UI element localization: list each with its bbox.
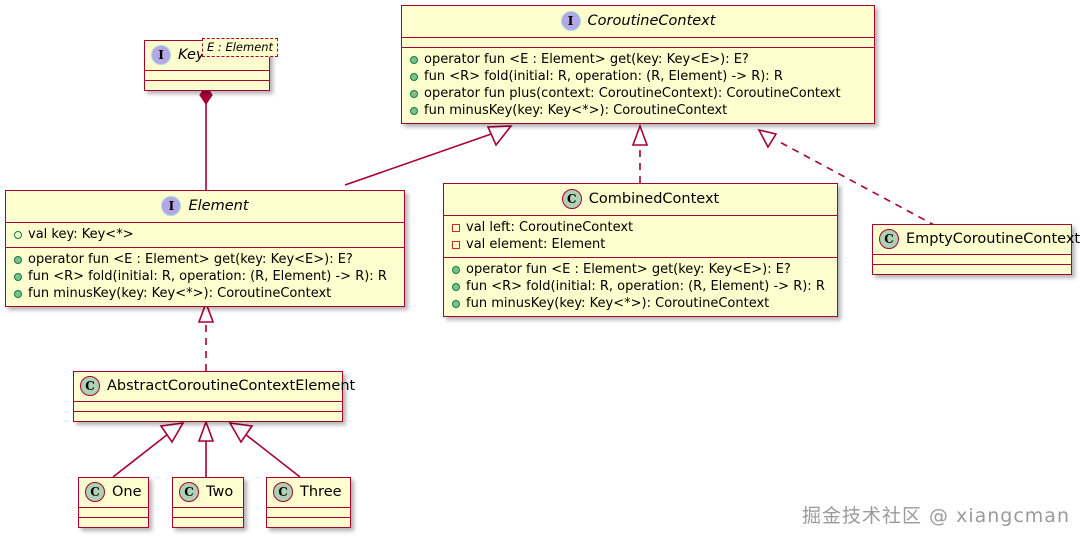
- public-method-marker-icon: [410, 73, 418, 81]
- method-row: fun minusKey(key: Key<*>): CoroutineCont…: [450, 295, 831, 312]
- class-fields-combinedcontext: val left: CoroutineContext val element: …: [444, 216, 837, 257]
- class-methods-emptycoroutinecontext: [873, 265, 1071, 274]
- field-row: val element: Element: [450, 236, 831, 253]
- class-methods-one: [79, 518, 148, 527]
- class-header-combinedcontext: C CombinedContext: [444, 184, 837, 215]
- class-methods-coroutinecontext: operator fun <E : Element> get(key: Key<…: [402, 48, 874, 123]
- class-fields-three: [267, 508, 350, 517]
- class-title-key: Key: [178, 47, 205, 63]
- relation-two-abstractelement: [199, 422, 213, 477]
- class-box-combinedcontext[interactable]: C CombinedContext val left: CoroutineCon…: [443, 183, 838, 317]
- class-header-coroutinecontext: I CoroutineContext: [402, 6, 874, 37]
- public-method-marker-icon: [452, 300, 460, 308]
- class-stereotype-icon: C: [879, 229, 899, 249]
- public-method-marker-icon: [452, 283, 460, 291]
- interface-stereotype-icon: I: [161, 196, 181, 216]
- interface-stereotype-icon: I: [151, 45, 171, 65]
- field-row: val left: CoroutineContext: [450, 219, 831, 236]
- private-field-marker-icon: [452, 241, 460, 249]
- method-row: fun <R> fold(initial: R, operation: (R, …: [450, 278, 831, 295]
- diagram-canvas: I Key E : Element I CoroutineContext ope…: [0, 0, 1084, 540]
- public-method-marker-icon: [410, 90, 418, 98]
- class-box-three[interactable]: C Three: [266, 477, 351, 528]
- class-methods-element: operator fun <E : Element> get(key: Key<…: [6, 248, 404, 306]
- class-box-emptycoroutinecontext[interactable]: C EmptyCoroutineContext: [872, 224, 1072, 275]
- method-signature: operator fun <E : Element> get(key: Key<…: [28, 251, 353, 268]
- relation-element-coroutinecontext: [345, 126, 511, 185]
- class-methods-abstractcoroutinecontextelement: [74, 412, 342, 421]
- class-title-element: Element: [188, 198, 248, 214]
- watermark-text: 掘金技术社区 @ xiangcman: [802, 501, 1070, 528]
- class-box-abstractcoroutinecontextelement[interactable]: C AbstractCoroutineContextElement: [73, 371, 343, 422]
- method-row: operator fun <E : Element> get(key: Key<…: [12, 251, 398, 268]
- method-row: fun minusKey(key: Key<*>): CoroutineCont…: [12, 285, 398, 302]
- class-methods-three: [267, 518, 350, 527]
- public-method-marker-icon: [14, 290, 22, 298]
- field-signature: val left: CoroutineContext: [466, 219, 633, 236]
- class-title-emptycoroutinecontext: EmptyCoroutineContext: [906, 231, 1080, 247]
- relation-combinedcontext-coroutinecontext: [633, 126, 647, 183]
- class-header-element: I Element: [6, 191, 404, 222]
- class-stereotype-icon: C: [273, 482, 293, 502]
- method-signature: operator fun <E : Element> get(key: Key<…: [466, 261, 791, 278]
- field-signature: val element: Element: [466, 236, 605, 253]
- interface-stereotype-icon: I: [561, 11, 581, 31]
- method-row: operator fun <E : Element> get(key: Key<…: [408, 51, 868, 68]
- class-header-one: C One: [79, 478, 148, 507]
- public-field-marker-icon: [14, 231, 22, 239]
- relation-three-abstractelement: [230, 423, 300, 477]
- class-title-three: Three: [300, 484, 342, 500]
- class-header-abstractcoroutinecontextelement: C AbstractCoroutineContextElement: [74, 372, 342, 401]
- public-method-marker-icon: [452, 266, 460, 274]
- class-fields-one: [79, 508, 148, 517]
- class-methods-key: [145, 81, 269, 90]
- class-stereotype-icon: C: [179, 482, 199, 502]
- method-signature: fun <R> fold(initial: R, operation: (R, …: [466, 278, 825, 295]
- class-title-combinedcontext: CombinedContext: [589, 191, 719, 207]
- public-method-marker-icon: [410, 107, 418, 115]
- method-signature: fun <R> fold(initial: R, operation: (R, …: [424, 68, 783, 85]
- relation-abstractelement-element: [199, 303, 213, 371]
- class-fields-abstractcoroutinecontextelement: [74, 402, 342, 411]
- public-method-marker-icon: [410, 56, 418, 64]
- method-signature: operator fun plus(context: CoroutineCont…: [424, 85, 841, 102]
- private-field-marker-icon: [452, 224, 460, 232]
- method-signature: fun minusKey(key: Key<*>): CoroutineCont…: [424, 102, 727, 119]
- class-title-two: Two: [206, 484, 233, 500]
- class-title-coroutinecontext: CoroutineContext: [588, 13, 716, 29]
- public-method-marker-icon: [14, 256, 22, 264]
- class-box-one[interactable]: C One: [78, 477, 149, 528]
- generic-type-parameter-key: E : Element: [202, 38, 278, 57]
- class-stereotype-icon: C: [85, 482, 105, 502]
- relation-element-key: [200, 86, 212, 190]
- method-signature: fun <R> fold(initial: R, operation: (R, …: [28, 268, 387, 285]
- class-box-element[interactable]: I Element val key: Key<*> operator fun <…: [5, 190, 405, 307]
- class-fields-two: [173, 508, 243, 517]
- class-fields-emptycoroutinecontext: [873, 255, 1071, 264]
- class-stereotype-icon: C: [80, 376, 100, 396]
- class-header-three: C Three: [267, 478, 350, 507]
- class-header-two: C Two: [173, 478, 243, 507]
- class-fields-coroutinecontext: [402, 38, 874, 47]
- method-row: operator fun plus(context: CoroutineCont…: [408, 85, 868, 102]
- class-title-abstractcoroutinecontextelement: AbstractCoroutineContextElement: [107, 378, 355, 394]
- class-methods-combinedcontext: operator fun <E : Element> get(key: Key<…: [444, 258, 837, 316]
- class-header-emptycoroutinecontext: C EmptyCoroutineContext: [873, 225, 1071, 254]
- class-methods-two: [173, 518, 243, 527]
- method-signature: fun minusKey(key: Key<*>): CoroutineCont…: [466, 295, 769, 312]
- relation-one-abstractelement: [113, 423, 183, 477]
- method-row: fun <R> fold(initial: R, operation: (R, …: [12, 268, 398, 285]
- class-title-one: One: [112, 484, 142, 500]
- method-row: fun <R> fold(initial: R, operation: (R, …: [408, 68, 868, 85]
- method-signature: operator fun <E : Element> get(key: Key<…: [424, 51, 749, 68]
- class-fields-key: [145, 71, 269, 80]
- method-signature: fun minusKey(key: Key<*>): CoroutineCont…: [28, 285, 331, 302]
- field-signature: val key: Key<*>: [28, 226, 134, 243]
- method-row: operator fun <E : Element> get(key: Key<…: [450, 261, 831, 278]
- class-stereotype-icon: C: [562, 189, 582, 209]
- field-row: val key: Key<*>: [12, 226, 398, 243]
- public-method-marker-icon: [14, 273, 22, 281]
- method-row: fun minusKey(key: Key<*>): CoroutineCont…: [408, 102, 868, 119]
- class-box-two[interactable]: C Two: [172, 477, 244, 528]
- class-box-coroutinecontext[interactable]: I CoroutineContext operator fun <E : Ele…: [401, 5, 875, 124]
- class-fields-element: val key: Key<*>: [6, 223, 404, 247]
